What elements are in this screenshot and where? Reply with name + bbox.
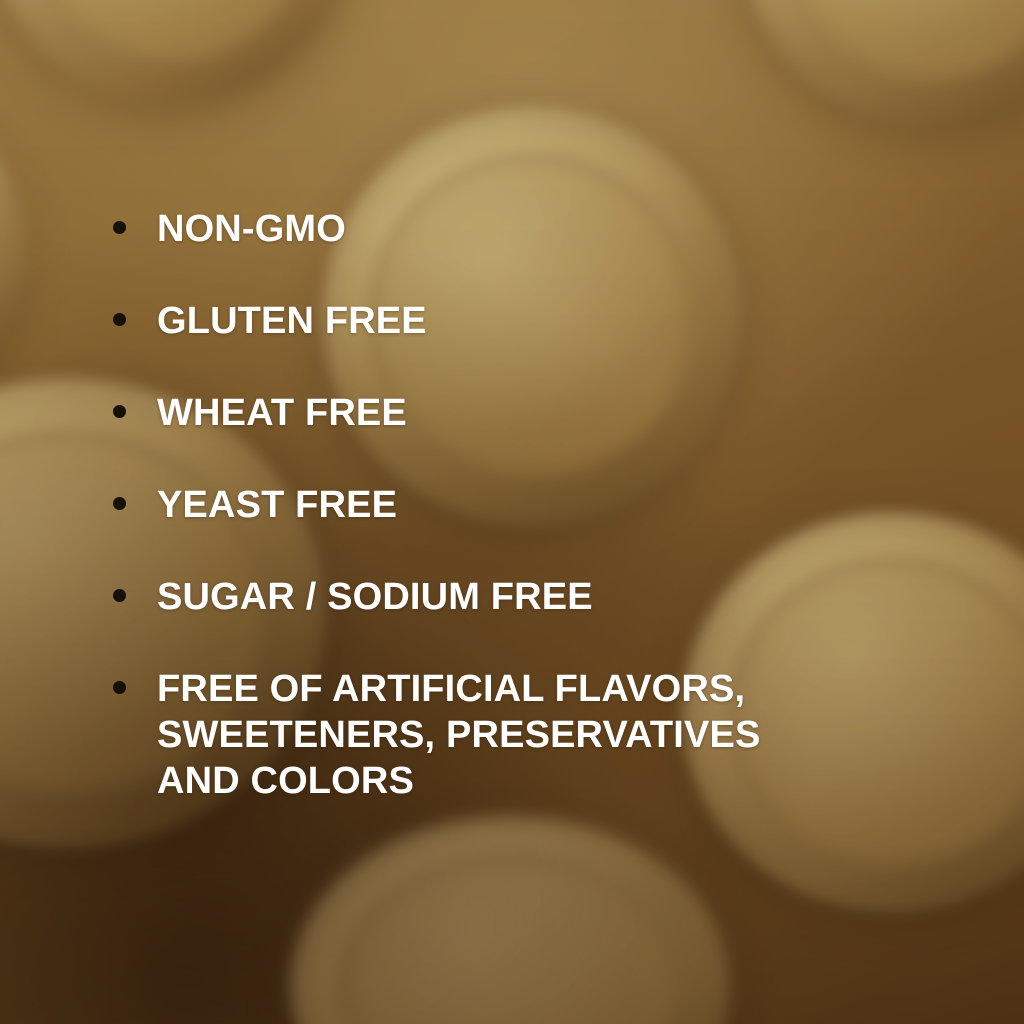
bullet-dot-icon xyxy=(113,313,126,326)
benefits-list: NON-GMO GLUTEN FREE WHEAT FREE YEAST FRE… xyxy=(113,206,853,804)
benefit-label: NON-GMO xyxy=(157,206,346,252)
benefit-label: WHEAT FREE xyxy=(157,390,407,436)
bullet-dot-icon xyxy=(113,681,126,694)
bullet-dot-icon xyxy=(113,589,126,602)
bullet-dot-icon xyxy=(113,221,126,234)
benefit-label: SUGAR / SODIUM FREE xyxy=(157,574,593,620)
bullet-dot-icon xyxy=(113,497,126,510)
product-benefits-graphic: SOLGAR SOLGAR SOLGAR xyxy=(0,0,1024,1024)
list-item: YEAST FREE xyxy=(113,482,853,528)
bullet-dot-icon xyxy=(113,405,126,418)
list-item: FREE OF ARTIFICIAL FLAVORS, SWEETENERS, … xyxy=(113,666,853,804)
list-item: GLUTEN FREE xyxy=(113,298,853,344)
benefit-label: FREE OF ARTIFICIAL FLAVORS, SWEETENERS, … xyxy=(157,666,761,804)
list-item: NON-GMO xyxy=(113,206,853,252)
benefit-label: YEAST FREE xyxy=(157,482,397,528)
list-item: SUGAR / SODIUM FREE xyxy=(113,574,853,620)
list-item: WHEAT FREE xyxy=(113,390,853,436)
benefit-label: GLUTEN FREE xyxy=(157,298,427,344)
